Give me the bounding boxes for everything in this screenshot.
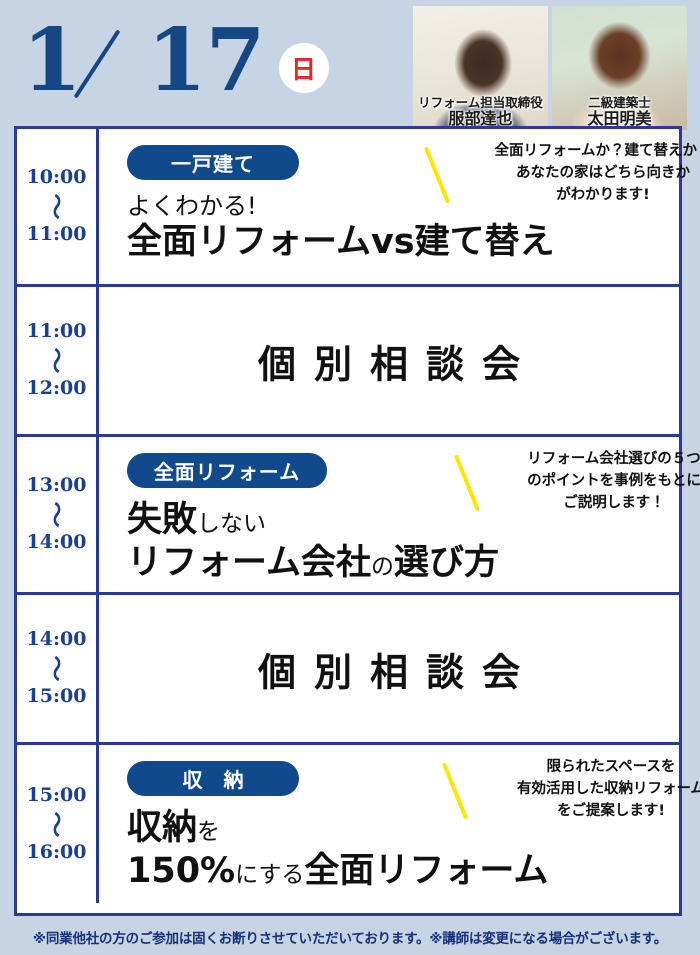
note-line: あなたの家はどちら向きか [459, 163, 700, 185]
time-start: 14:00 [27, 626, 87, 654]
session-content: 個別相談会 [99, 287, 679, 434]
title-lead: 失敗 [127, 500, 197, 540]
session-title: 個別相談会 [99, 641, 679, 696]
session-note: リフォーム会社選びの５つ のポイントを事例をもとに ご説明します！ [489, 449, 700, 514]
schedule-table: 10:00 〜 11:00 一戸建て 全面リフォームか？建て替えか？ あなたの家… [14, 126, 682, 916]
date-month: 1 [22, 18, 81, 104]
title-tail: 全面リフォーム [304, 851, 548, 891]
time-start: 15:00 [27, 782, 87, 810]
time-start: 11:00 [27, 318, 87, 346]
time-end: 16:00 [27, 839, 87, 867]
schedule-row: 13:00 〜 14:00 全面リフォーム リフォーム会社選びの５つ のポイント… [17, 437, 679, 595]
session-subtitle: よくわかる! [127, 191, 555, 221]
presenter-card: リフォーム担当取締役 服部達也 [413, 6, 548, 130]
time-start: 10:00 [27, 164, 87, 192]
note-line: 全面リフォームか？建て替えか？ [459, 141, 700, 163]
time-end: 14:00 [27, 529, 87, 557]
note-line: リフォーム会社選びの５つ [489, 449, 700, 471]
day-of-week-badge: 日 [279, 43, 329, 93]
poster-header: 1 17 日 リフォーム担当取締役 服部達也 二級建築士 太田明美 [0, 0, 700, 125]
time-end: 12:00 [27, 375, 87, 403]
session-content: 収 納 限られたスペースを 有効活用した収納リフォーム をご提案します! 収納を… [99, 745, 679, 903]
schedule-row: 14:00 〜 15:00 個別相談会 [17, 595, 679, 745]
presenter-caption: 二級建築士 太田明美 [552, 96, 687, 130]
date-day: 17 [147, 18, 265, 104]
presenter-photos: リフォーム担当取締役 服部達也 二級建築士 太田明美 [413, 6, 687, 130]
category-badge: 全面リフォーム [127, 453, 327, 488]
note-line: 限られたスペースを [477, 757, 700, 779]
presenter-card: 二級建築士 太田明美 [552, 6, 687, 130]
time-slot: 14:00 〜 15:00 [17, 595, 99, 742]
time-separator-icon: 〜 [46, 655, 67, 681]
presenter-role: 二級建築士 [552, 96, 687, 110]
session-content: 個別相談会 [99, 595, 679, 742]
session-title: 150%にする全面リフォーム [127, 850, 548, 893]
time-separator-icon: 〜 [46, 811, 67, 837]
presenter-caption: リフォーム担当取締役 服部達也 [413, 96, 548, 130]
session-title-block: 失敗しない リフォーム会社の選び方 [127, 499, 499, 584]
session-title: リフォーム会社の選び方 [127, 542, 499, 585]
time-slot: 10:00 〜 11:00 [17, 129, 99, 284]
category-badge: 一戸建て [127, 145, 299, 180]
title-particle: にする [235, 862, 304, 888]
time-end: 15:00 [27, 683, 87, 711]
session-content: 一戸建て 全面リフォームか？建て替えか？ あなたの家はどちら向きか がわかります… [99, 129, 679, 284]
time-separator-icon: 〜 [46, 193, 67, 219]
title-main: リフォーム会社 [127, 543, 371, 583]
disclaimer-text: ※同業他社の方のご参加は固くお断りさせていただいております。※講師は変更になる場… [0, 927, 700, 947]
time-separator-icon: 〜 [46, 347, 67, 373]
note-line: 有効活用した収納リフォーム [477, 779, 700, 801]
title-particle: の [371, 554, 394, 580]
schedule-row: 15:00 〜 16:00 収 納 限られたスペースを 有効活用した収納リフォー… [17, 745, 679, 903]
schedule-row: 10:00 〜 11:00 一戸建て 全面リフォームか？建て替えか？ あなたの家… [17, 129, 679, 287]
title-percent: 150% [127, 851, 235, 891]
session-title: 全面リフォームvs建て替え [127, 221, 555, 264]
title-lead-suffix: を [197, 819, 220, 845]
date-display: 1 17 日 [22, 18, 329, 104]
title-lead-suffix: しない [197, 511, 266, 537]
time-end: 11:00 [27, 221, 87, 249]
time-slot: 13:00 〜 14:00 [17, 437, 99, 592]
note-line: ご説明します！ [489, 493, 700, 515]
schedule-row: 11:00 〜 12:00 個別相談会 [17, 287, 679, 437]
session-subtitle: 収納を [127, 807, 548, 850]
date-slash-icon [81, 18, 147, 104]
session-title: 個別相談会 [99, 333, 679, 388]
session-content: 全面リフォーム リフォーム会社選びの５つ のポイントを事例をもとに ご説明します… [99, 437, 679, 592]
time-slot: 11:00 〜 12:00 [17, 287, 99, 434]
category-badge: 収 納 [127, 761, 299, 796]
time-separator-icon: 〜 [46, 501, 67, 527]
presenter-role: リフォーム担当取締役 [413, 96, 548, 110]
note-line: のポイントを事例をもとに [489, 471, 700, 493]
session-title-block: よくわかる! 全面リフォームvs建て替え [127, 191, 555, 264]
session-subtitle: 失敗しない [127, 499, 499, 542]
time-slot: 15:00 〜 16:00 [17, 745, 99, 903]
session-title-block: 収納を 150%にする全面リフォーム [127, 807, 548, 892]
title-lead: 収納 [127, 808, 197, 848]
time-start: 13:00 [27, 472, 87, 500]
title-tail: 選び方 [394, 543, 499, 583]
